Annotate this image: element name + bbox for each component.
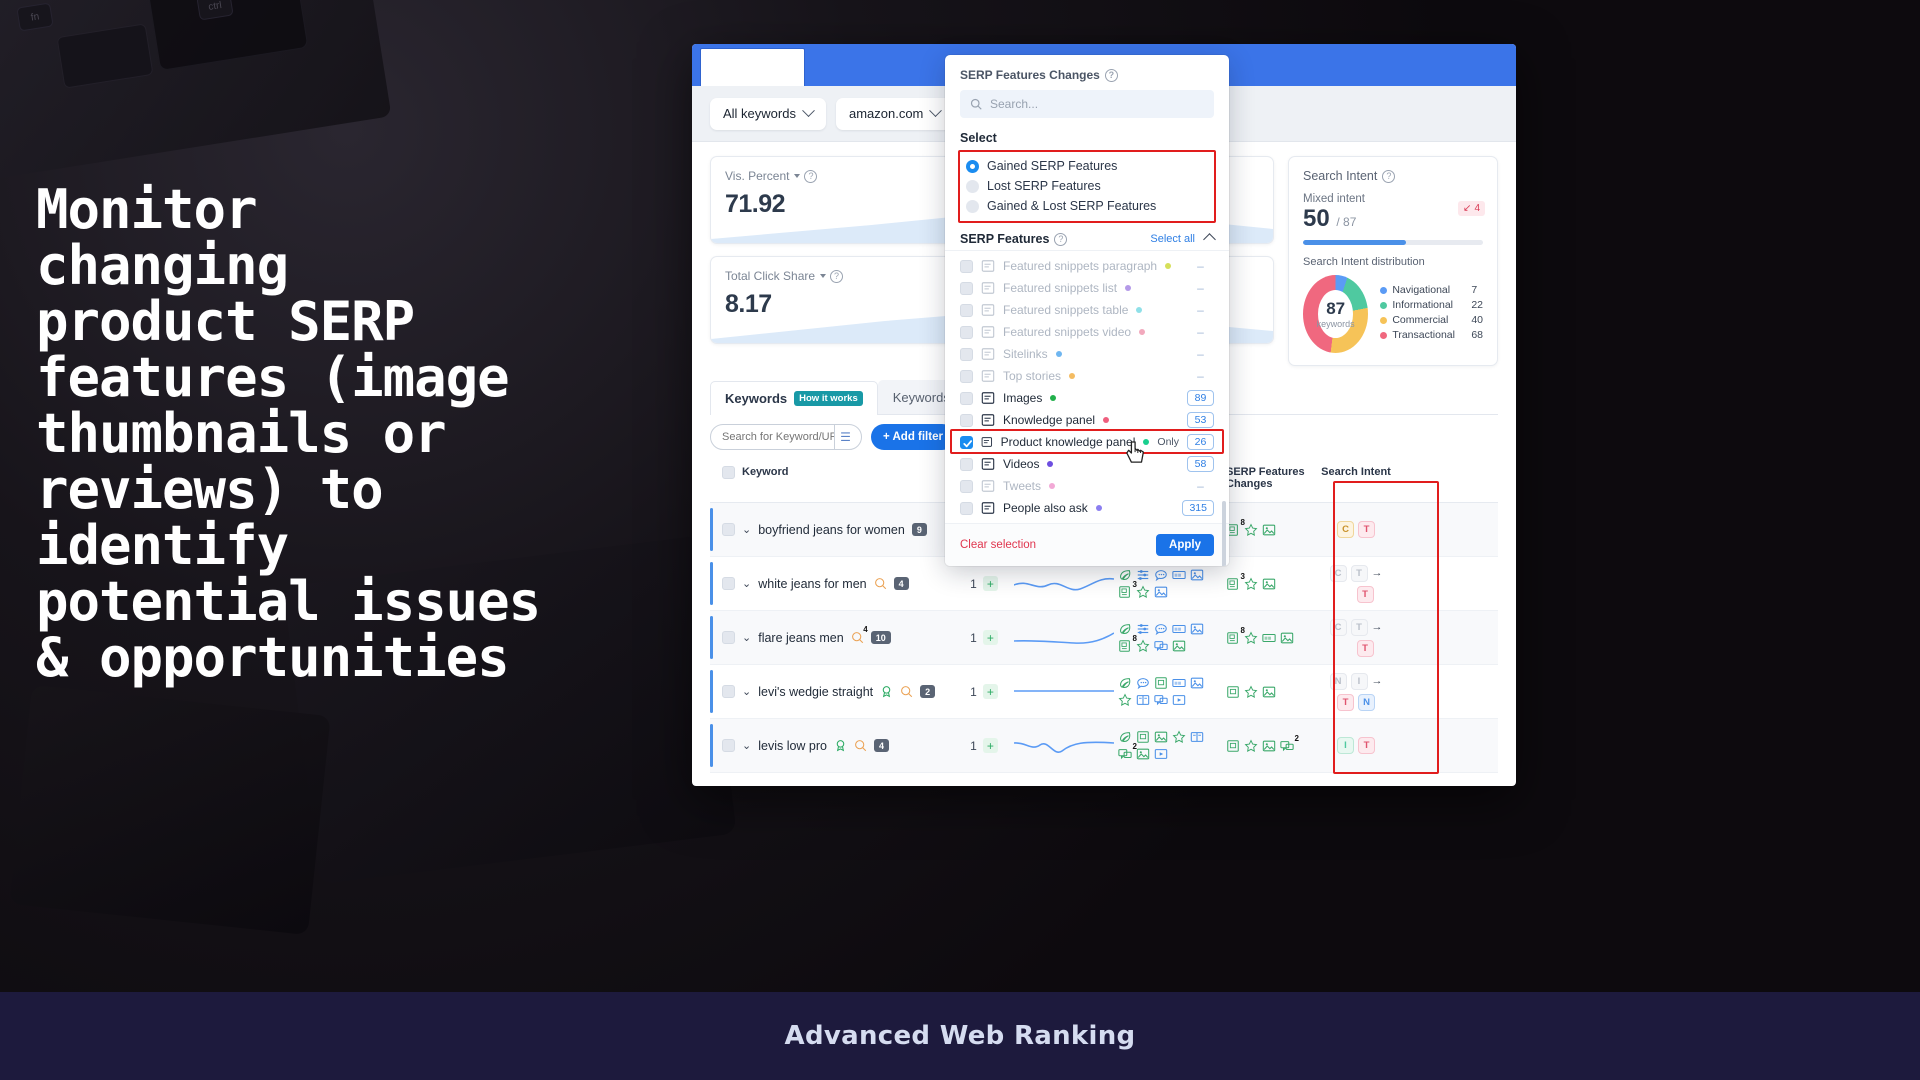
feature-checkbox[interactable] xyxy=(960,260,973,273)
serp-feature-row-5[interactable]: Top stories– xyxy=(945,365,1229,387)
arrow-right-icon: → xyxy=(1372,621,1383,633)
magnifier-orange-icon xyxy=(854,739,867,752)
help-icon[interactable]: ? xyxy=(804,170,817,183)
legend-label: Commercial xyxy=(1392,314,1466,326)
serp-feature-row-10[interactable]: Tweets– xyxy=(945,475,1229,497)
mouse-cursor-pointer-icon xyxy=(1125,440,1147,466)
intent-badge: N xyxy=(1358,694,1375,711)
serp-feature-row-4[interactable]: Sitelinks– xyxy=(945,343,1229,365)
serp-feature-icon xyxy=(1136,585,1150,599)
brand-name: Advanced Web Ranking xyxy=(785,1021,1136,1051)
feature-label: Featured snippets paragraph xyxy=(1003,259,1157,273)
browser-tab[interactable] xyxy=(700,48,805,86)
serp-feature-change-icon xyxy=(1244,631,1258,645)
row-keyword-cell: ⌄flare jeans men410 xyxy=(710,631,958,645)
radio-button[interactable] xyxy=(966,160,979,173)
feature-right: 89 xyxy=(1187,390,1214,406)
row-keyword-cell: ⌄white jeans for men4 xyxy=(710,577,958,591)
serp-feature-icon xyxy=(1118,730,1132,744)
dropdown-scrollbar[interactable] xyxy=(1222,501,1226,566)
search-input[interactable] xyxy=(722,431,834,443)
keywords-filter-label: All keywords xyxy=(723,106,796,121)
keyword-count-badge: 4 xyxy=(874,739,889,752)
donut-center-value: 87 xyxy=(1326,299,1345,319)
serp-feature-change-icon: 3 xyxy=(1226,577,1240,591)
sitelinks-icon xyxy=(981,347,995,361)
serp-feature-icon xyxy=(1136,676,1150,690)
serp-feature-icon xyxy=(1154,568,1168,582)
feature-color-dot xyxy=(1103,417,1109,423)
feature-color-dot xyxy=(1069,373,1075,379)
caret-down-icon xyxy=(794,174,800,178)
row-trend-cell xyxy=(1010,731,1118,761)
radio-label: Gained & Lost SERP Features xyxy=(987,199,1156,213)
top-stories-icon xyxy=(981,369,995,383)
row-keyword-cell: ⌄levi's wedgie straight2 xyxy=(710,685,958,699)
legend-value: 22 xyxy=(1471,299,1483,311)
legend-item: Informational22 xyxy=(1380,299,1483,311)
legend-value: 68 xyxy=(1471,329,1483,341)
search-intent-delta-badge: ↙ 4 xyxy=(1458,201,1485,216)
serp-feature-change-icon xyxy=(1262,577,1276,591)
add-filter-button[interactable]: + Add filter xyxy=(871,424,955,450)
row-checkbox[interactable] xyxy=(722,685,735,698)
serp-feature-row-6[interactable]: Images89 xyxy=(945,387,1229,409)
domain-filter-label: amazon.com xyxy=(849,106,923,121)
serp-feature-icon xyxy=(1172,622,1186,636)
row-serp-features-changes-cell: 8 xyxy=(1218,523,1318,537)
feature-count: 58 xyxy=(1187,456,1214,472)
serp-feature-icon xyxy=(1190,730,1204,744)
serp-feature-row-7[interactable]: Knowledge panel53 xyxy=(945,409,1229,431)
keyword-text: flare jeans men xyxy=(758,631,843,645)
expand-chevron-icon[interactable]: ⌄ xyxy=(742,523,751,536)
mixed-intent-total: / 87 xyxy=(1336,215,1356,229)
serp-feature-icon xyxy=(1136,730,1150,744)
serp-feature-icon xyxy=(1136,693,1150,707)
serp-feature-row-3[interactable]: Featured snippets video– xyxy=(945,321,1229,343)
feature-count: – xyxy=(1187,259,1214,273)
keyword-search-box[interactable]: ☰ xyxy=(710,424,862,450)
feature-color-dot xyxy=(1096,505,1102,511)
bg-device-5 xyxy=(9,685,330,935)
help-icon[interactable]: ? xyxy=(1054,233,1067,246)
help-icon[interactable]: ? xyxy=(1382,170,1395,183)
legend-item: Navigational7 xyxy=(1380,284,1483,296)
people-also-ask-icon xyxy=(981,501,995,515)
serp-feature-icon xyxy=(1190,622,1204,636)
serp-feature-change-icon xyxy=(1244,685,1258,699)
award-green-icon xyxy=(834,739,847,752)
intent-badge: T xyxy=(1351,619,1368,636)
radio-group-highlighted: Gained SERP FeaturesLost SERP FeaturesGa… xyxy=(958,150,1216,223)
keyword-count-badge: 9 xyxy=(912,523,927,536)
help-icon[interactable]: ? xyxy=(830,270,843,283)
feature-count: – xyxy=(1187,325,1214,339)
serp-feature-icon xyxy=(1154,676,1168,690)
feature-checkbox[interactable] xyxy=(960,282,973,295)
position-value: 1 xyxy=(970,739,977,753)
feature-label: Knowledge panel xyxy=(1003,413,1095,427)
radio-option-1[interactable]: Lost SERP Features xyxy=(964,176,1210,196)
feature-label: Tweets xyxy=(1003,479,1041,493)
feature-count: – xyxy=(1187,347,1214,361)
keyword-count-badge: 2 xyxy=(920,685,935,698)
search-intent-header: Search Intent ? xyxy=(1303,169,1483,183)
select-all-link[interactable]: Select all xyxy=(1150,233,1195,245)
mixed-intent-label: Mixed intent xyxy=(1303,193,1483,205)
serp-feature-icon xyxy=(1136,568,1150,582)
dropdown-search-box[interactable]: Search... xyxy=(960,90,1214,118)
feature-color-dot xyxy=(1050,395,1056,401)
keyword-text: levis low pro xyxy=(758,739,827,753)
row-checkbox[interactable] xyxy=(722,523,735,536)
arrow-right-icon: → xyxy=(1372,675,1383,687)
row-serp-features-cell: 2 xyxy=(1118,730,1218,761)
feature-checkbox[interactable] xyxy=(960,502,973,515)
intent-badge: I xyxy=(1337,737,1354,754)
row-search-intent-cell: IT xyxy=(1318,737,1394,754)
expand-chevron-icon[interactable]: ⌄ xyxy=(742,685,751,698)
screenshot-root: fn ctrl Monitor changing product SERP fe… xyxy=(0,0,1920,1080)
feature-right: – xyxy=(1187,369,1214,383)
tweets-icon xyxy=(981,479,995,493)
feature-right: 58 xyxy=(1187,456,1214,472)
serp-feature-icon xyxy=(1172,568,1186,582)
feature-color-dot xyxy=(1125,285,1131,291)
row-serp-features-changes-cell xyxy=(1218,685,1318,699)
chevron-up-icon[interactable] xyxy=(1203,233,1216,246)
serp-feature-change-icon xyxy=(1226,739,1240,753)
serp-feature-change-icon xyxy=(1280,631,1294,645)
position-value: 1 xyxy=(970,685,977,699)
serp-feature-icon xyxy=(1172,730,1186,744)
snippet-paragraph-icon xyxy=(981,259,995,273)
row-serp-features-cell: 8 xyxy=(1118,622,1218,653)
feature-color-dot xyxy=(1049,483,1055,489)
intent-badge: C xyxy=(1330,619,1347,636)
serp-feature-icon xyxy=(1118,676,1132,690)
add-position-icon[interactable]: + xyxy=(983,630,998,645)
feature-count: – xyxy=(1187,479,1214,493)
help-icon[interactable]: ? xyxy=(1105,69,1118,82)
table-row[interactable]: ⌄levis low pro41+22IT xyxy=(710,719,1498,773)
position-value: 1 xyxy=(970,577,977,591)
row-checkbox[interactable] xyxy=(722,631,735,644)
feature-label: Sitelinks xyxy=(1003,347,1048,361)
dropdown-search-placeholder: Search... xyxy=(990,97,1038,111)
award-green-icon xyxy=(880,685,893,698)
feature-color-dot xyxy=(1165,263,1171,269)
row-checkbox[interactable] xyxy=(722,739,735,752)
serp-feature-row-11[interactable]: People also ask315 xyxy=(945,497,1229,519)
feature-right: – xyxy=(1187,347,1214,361)
intent-badge: N xyxy=(1330,673,1347,690)
distribution-label: Search Intent distribution xyxy=(1303,256,1483,268)
feature-label: People also ask xyxy=(1003,501,1088,515)
row-serp-features-cell: 3 xyxy=(1118,568,1218,599)
dropdown-title: SERP Features Changes xyxy=(960,68,1100,82)
serp-features-section-header: SERP Features ? Select all xyxy=(945,223,1229,250)
serp-feature-change-icon xyxy=(1262,523,1276,537)
chevron-down-icon xyxy=(930,104,943,117)
snippet-video-icon xyxy=(981,325,995,339)
serp-feature-icon xyxy=(1154,622,1168,636)
serp-feature-change-icon xyxy=(1226,685,1240,699)
th-search-intent: Search Intent xyxy=(1318,466,1394,478)
row-keyword-cell: ⌄boyfriend jeans for women9 xyxy=(710,523,958,537)
feature-color-dot xyxy=(1139,329,1145,335)
feature-checkbox[interactable] xyxy=(960,458,973,471)
add-position-icon[interactable]: + xyxy=(983,738,998,753)
row-position-cell: 1+ xyxy=(958,738,1010,753)
serp-feature-icon xyxy=(1136,622,1150,636)
feature-count: – xyxy=(1187,303,1214,317)
keywords-filter-dropdown[interactable]: All keywords xyxy=(710,98,826,130)
search-intent-card: Search Intent ? Mixed intent 50 / 87 ↙ 4… xyxy=(1288,156,1498,366)
radio-label: Gained SERP Features xyxy=(987,159,1117,173)
serp-feature-icon xyxy=(1118,622,1132,636)
legend-dot xyxy=(1380,302,1387,309)
feature-checkbox[interactable] xyxy=(960,392,973,405)
bottom-banner: Advanced Web Ranking xyxy=(0,992,1920,1080)
feature-right: 53 xyxy=(1187,412,1214,428)
feature-count: – xyxy=(1187,281,1214,295)
row-search-intent-cell: NI→TN xyxy=(1318,673,1394,711)
expand-chevron-icon[interactable]: ⌄ xyxy=(742,577,751,590)
mixed-intent-value: 50 xyxy=(1303,205,1330,232)
serp-feature-icon: 2 xyxy=(1118,747,1132,761)
legend-value: 7 xyxy=(1471,284,1477,296)
serp-feature-row-9[interactable]: Videos58 xyxy=(945,453,1229,475)
th-serp-features-changes: SERP Features Changes xyxy=(1218,466,1318,490)
serp-feature-change-icon xyxy=(1262,739,1276,753)
row-position-cell: 1+ xyxy=(958,576,1010,591)
snippet-list-icon xyxy=(981,281,995,295)
radio-label: Lost SERP Features xyxy=(987,179,1101,193)
arrow-down-left-icon: ↙ xyxy=(1463,203,1471,214)
feature-right: – xyxy=(1187,325,1214,339)
serp-feature-icon xyxy=(1154,747,1168,761)
feature-count: – xyxy=(1187,369,1214,383)
row-trend-cell xyxy=(1010,569,1118,599)
row-search-intent-cell: CT→T xyxy=(1318,619,1394,657)
serp-feature-icon xyxy=(1136,639,1150,653)
row-trend-cell xyxy=(1010,623,1118,653)
feature-checkbox[interactable] xyxy=(960,326,973,339)
feature-checkbox[interactable] xyxy=(960,348,973,361)
serp-feature-icon xyxy=(1154,730,1168,744)
tab-keywords-label: Keywords xyxy=(725,391,787,406)
feature-right: – xyxy=(1187,281,1214,295)
serp-feature-change-icon: 8 xyxy=(1226,631,1240,645)
row-position-cell: 1+ xyxy=(958,630,1010,645)
legend-item: Transactional68 xyxy=(1380,329,1483,341)
serp-features-list: Featured snippets paragraph–Featured sni… xyxy=(945,250,1229,523)
magnifier-orange-4-icon: 4 xyxy=(851,631,864,644)
keyword-count-badge: 10 xyxy=(871,631,891,644)
serp-feature-change-icon: 2 xyxy=(1280,739,1294,753)
add-position-icon[interactable]: + xyxy=(983,576,998,591)
th-keyword-cell: Keyword xyxy=(710,466,958,479)
feature-checkbox[interactable] xyxy=(960,414,973,427)
feature-label: Featured snippets table xyxy=(1003,303,1128,317)
magnifier-orange-icon xyxy=(874,577,887,590)
serp-features-section-label: SERP Features xyxy=(960,232,1049,246)
serp-features-changes-dropdown: SERP Features Changes ? Search... Select… xyxy=(945,55,1229,566)
feature-label: Featured snippets list xyxy=(1003,281,1117,295)
intent-donut-chart: 87 keywords xyxy=(1303,275,1368,353)
select-all-checkbox[interactable] xyxy=(722,466,735,479)
row-serp-features-changes-cell: 8 xyxy=(1218,631,1318,645)
serp-feature-icon xyxy=(1172,639,1186,653)
search-intent-title: Search Intent xyxy=(1303,169,1377,183)
knowledge-panel-icon xyxy=(981,413,995,427)
table-row[interactable]: ⌄levi's wedgie straight21+NI→TN xyxy=(710,665,1498,719)
feature-right: – xyxy=(1187,303,1214,317)
serp-feature-icon xyxy=(1190,568,1204,582)
intent-legend: Navigational7Informational22Commercial40… xyxy=(1380,284,1483,344)
feature-checkbox[interactable] xyxy=(960,480,973,493)
intent-donut-wrap: 87 keywords Navigational7Informational22… xyxy=(1303,275,1483,353)
serp-feature-icon xyxy=(1118,693,1132,707)
intent-badge: T xyxy=(1357,640,1374,657)
expand-chevron-icon[interactable]: ⌄ xyxy=(742,739,751,752)
serp-feature-row-1[interactable]: Featured snippets list– xyxy=(945,277,1229,299)
serp-feature-icon xyxy=(1172,676,1186,690)
intent-badge: T xyxy=(1358,521,1375,538)
legend-dot xyxy=(1380,317,1387,324)
row-keyword-cell: ⌄levis low pro4 xyxy=(710,739,958,753)
th-keyword: Keyword xyxy=(742,466,788,478)
serp-feature-row-2[interactable]: Featured snippets table– xyxy=(945,299,1229,321)
serp-feature-icon xyxy=(1154,693,1168,707)
serp-feature-icon xyxy=(1172,693,1186,707)
intent-badge: T xyxy=(1358,737,1375,754)
intent-badge: T xyxy=(1337,694,1354,711)
radio-option-0[interactable]: Gained SERP Features xyxy=(964,156,1210,176)
serp-feature-change-icon xyxy=(1244,577,1258,591)
chevron-down-icon xyxy=(802,104,815,117)
donut-center: 87 keywords xyxy=(1303,275,1368,353)
feature-color-dot xyxy=(1047,461,1053,467)
legend-dot xyxy=(1380,332,1387,339)
legend-label: Navigational xyxy=(1392,284,1466,296)
feature-label: Images xyxy=(1003,391,1042,405)
row-checkbox[interactable] xyxy=(722,577,735,590)
delta-value: 4 xyxy=(1474,203,1480,214)
magnifier-orange-icon xyxy=(900,685,913,698)
intent-badge: C xyxy=(1337,521,1354,538)
row-trend-cell xyxy=(1010,677,1118,707)
search-icon xyxy=(970,98,982,110)
apply-button[interactable]: Apply xyxy=(1156,534,1214,556)
position-value: 1 xyxy=(970,631,977,645)
feature-color-dot xyxy=(1056,351,1062,357)
feature-right: 315 xyxy=(1182,500,1214,516)
table-row[interactable]: ⌄flare jeans men4101+88CT→T xyxy=(710,611,1498,665)
feature-checkbox[interactable] xyxy=(960,304,973,317)
serp-feature-change-icon xyxy=(1262,631,1276,645)
keyword-text: boyfriend jeans for women xyxy=(758,523,905,537)
snippet-table-icon xyxy=(981,303,995,317)
mixed-intent-progress xyxy=(1303,240,1483,245)
caret-down-icon xyxy=(820,274,826,278)
legend-label: Informational xyxy=(1392,299,1466,311)
donut-center-label: keywords xyxy=(1317,319,1355,329)
feature-label: Top stories xyxy=(1003,369,1061,383)
domain-filter-dropdown[interactable]: amazon.com xyxy=(836,98,953,130)
serp-feature-change-icon xyxy=(1244,523,1258,537)
feature-count: 53 xyxy=(1187,412,1214,428)
keyword-count-badge: 4 xyxy=(894,577,909,590)
feature-color-dot xyxy=(1136,307,1142,313)
intent-badge: C xyxy=(1330,565,1347,582)
how-it-works-badge[interactable]: How it works xyxy=(794,391,863,406)
arrow-right-icon: → xyxy=(1372,567,1383,579)
radio-button[interactable] xyxy=(966,200,979,213)
intent-badge: T xyxy=(1351,565,1368,582)
list-view-icon[interactable]: ☰ xyxy=(834,425,856,449)
feature-checkbox[interactable] xyxy=(960,370,973,383)
legend-item: Commercial40 xyxy=(1380,314,1483,326)
intent-badge: I xyxy=(1351,673,1368,690)
expand-chevron-icon[interactable]: ⌄ xyxy=(742,631,751,644)
serp-feature-icon xyxy=(1154,585,1168,599)
row-search-intent-cell: CT→T xyxy=(1318,565,1394,603)
serp-feature-icon: 8 xyxy=(1118,639,1132,653)
images-icon xyxy=(981,391,995,405)
row-serp-features-changes-cell: 3 xyxy=(1218,577,1318,591)
serp-feature-row-0[interactable]: Featured snippets paragraph– xyxy=(945,255,1229,277)
total-click-share-title: Total Click Share xyxy=(725,269,815,283)
clear-selection-button[interactable]: Clear selection xyxy=(960,539,1036,551)
highlight-product-knowledge-panel xyxy=(950,429,1224,454)
mixed-intent-value-wrap: 50 / 87 xyxy=(1303,205,1483,233)
serp-feature-change-icon xyxy=(1244,739,1258,753)
row-search-intent-cell: CT xyxy=(1318,521,1394,538)
serp-feature-icon xyxy=(1190,676,1204,690)
feature-right: – xyxy=(1187,259,1214,273)
legend-label: Transactional xyxy=(1392,329,1466,341)
tab-keywords[interactable]: Keywords How it works xyxy=(710,381,878,415)
feature-label: Videos xyxy=(1003,457,1039,471)
keyword-text: white jeans for men xyxy=(758,577,866,591)
feature-label: Featured snippets video xyxy=(1003,325,1131,339)
feature-count: 89 xyxy=(1187,390,1214,406)
vis-percent-title: Vis. Percent xyxy=(725,169,789,183)
legend-value: 40 xyxy=(1471,314,1483,326)
serp-feature-icon xyxy=(1136,747,1150,761)
serp-feature-icon xyxy=(1154,639,1168,653)
keyword-text: levi's wedgie straight xyxy=(758,685,873,699)
radio-option-2[interactable]: Gained & Lost SERP Features xyxy=(964,196,1210,216)
add-position-icon[interactable]: + xyxy=(983,684,998,699)
dropdown-title-row: SERP Features Changes ? xyxy=(945,55,1229,90)
select-section-label: Select xyxy=(945,126,1229,147)
videos-icon xyxy=(981,457,995,471)
serp-feature-change-icon xyxy=(1262,685,1276,699)
promo-headline: Monitor changing product SERP features (… xyxy=(36,182,676,686)
feature-count: 315 xyxy=(1182,500,1214,516)
row-position-cell: 1+ xyxy=(958,684,1010,699)
radio-button[interactable] xyxy=(966,180,979,193)
serp-feature-icon: 3 xyxy=(1118,585,1132,599)
intent-badge: T xyxy=(1357,586,1374,603)
row-serp-features-cell xyxy=(1118,676,1218,707)
dropdown-footer: Clear selection Apply xyxy=(945,523,1229,566)
serp-feature-icon xyxy=(1118,568,1132,582)
